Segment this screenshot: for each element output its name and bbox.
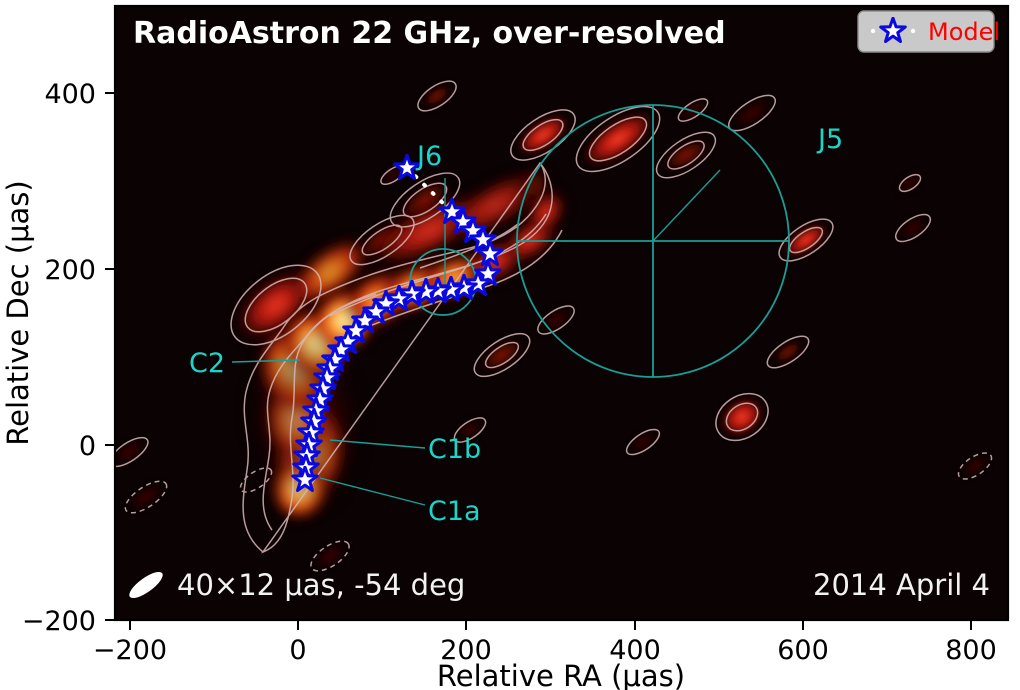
legend-box[interactable]: Model [858, 11, 1000, 52]
plot-title: RadioAstron 22 GHz, over-resolved [133, 16, 726, 51]
plot-area: J6 J5 C2 C1b C1a 40×12 μas, -54 deg 2014… [106, 6, 1008, 620]
xtick-label-0: −200 [93, 635, 167, 666]
y-axis-title: Relative Dec (μas) [1, 180, 35, 445]
annotation-label-j6: J6 [415, 141, 442, 172]
ytick-label-3: −200 [22, 606, 96, 637]
radio-map-figure: J6 J5 C2 C1b C1a 40×12 μas, -54 deg 2014… [0, 0, 1020, 690]
x-axis-title: Relative RA (μas) [437, 659, 685, 690]
annotation-label-j5: J5 [816, 124, 843, 155]
observation-date-label: 2014 April 4 [813, 568, 990, 602]
annotation-label-c1a: C1a [428, 496, 481, 527]
beam-size-label: 40×12 μas, -54 deg [177, 568, 465, 602]
xtick-label-4: 600 [777, 635, 829, 666]
xtick-label-5: 800 [945, 635, 997, 666]
annotation-label-c1b: C1b [428, 434, 481, 465]
ytick-label-1: 200 [44, 255, 96, 286]
legend-dot-left [871, 29, 875, 33]
annotation-label-c2: C2 [189, 348, 225, 379]
ytick-label-2: 0 [79, 431, 96, 462]
legend-dot-right [911, 29, 915, 33]
legend-entry-label: Model [928, 18, 1000, 46]
xtick-label-1: 0 [289, 635, 306, 666]
figure-canvas: J6 J5 C2 C1b C1a 40×12 μas, -54 deg 2014… [0, 0, 1020, 690]
ytick-label-0: 400 [44, 79, 96, 110]
